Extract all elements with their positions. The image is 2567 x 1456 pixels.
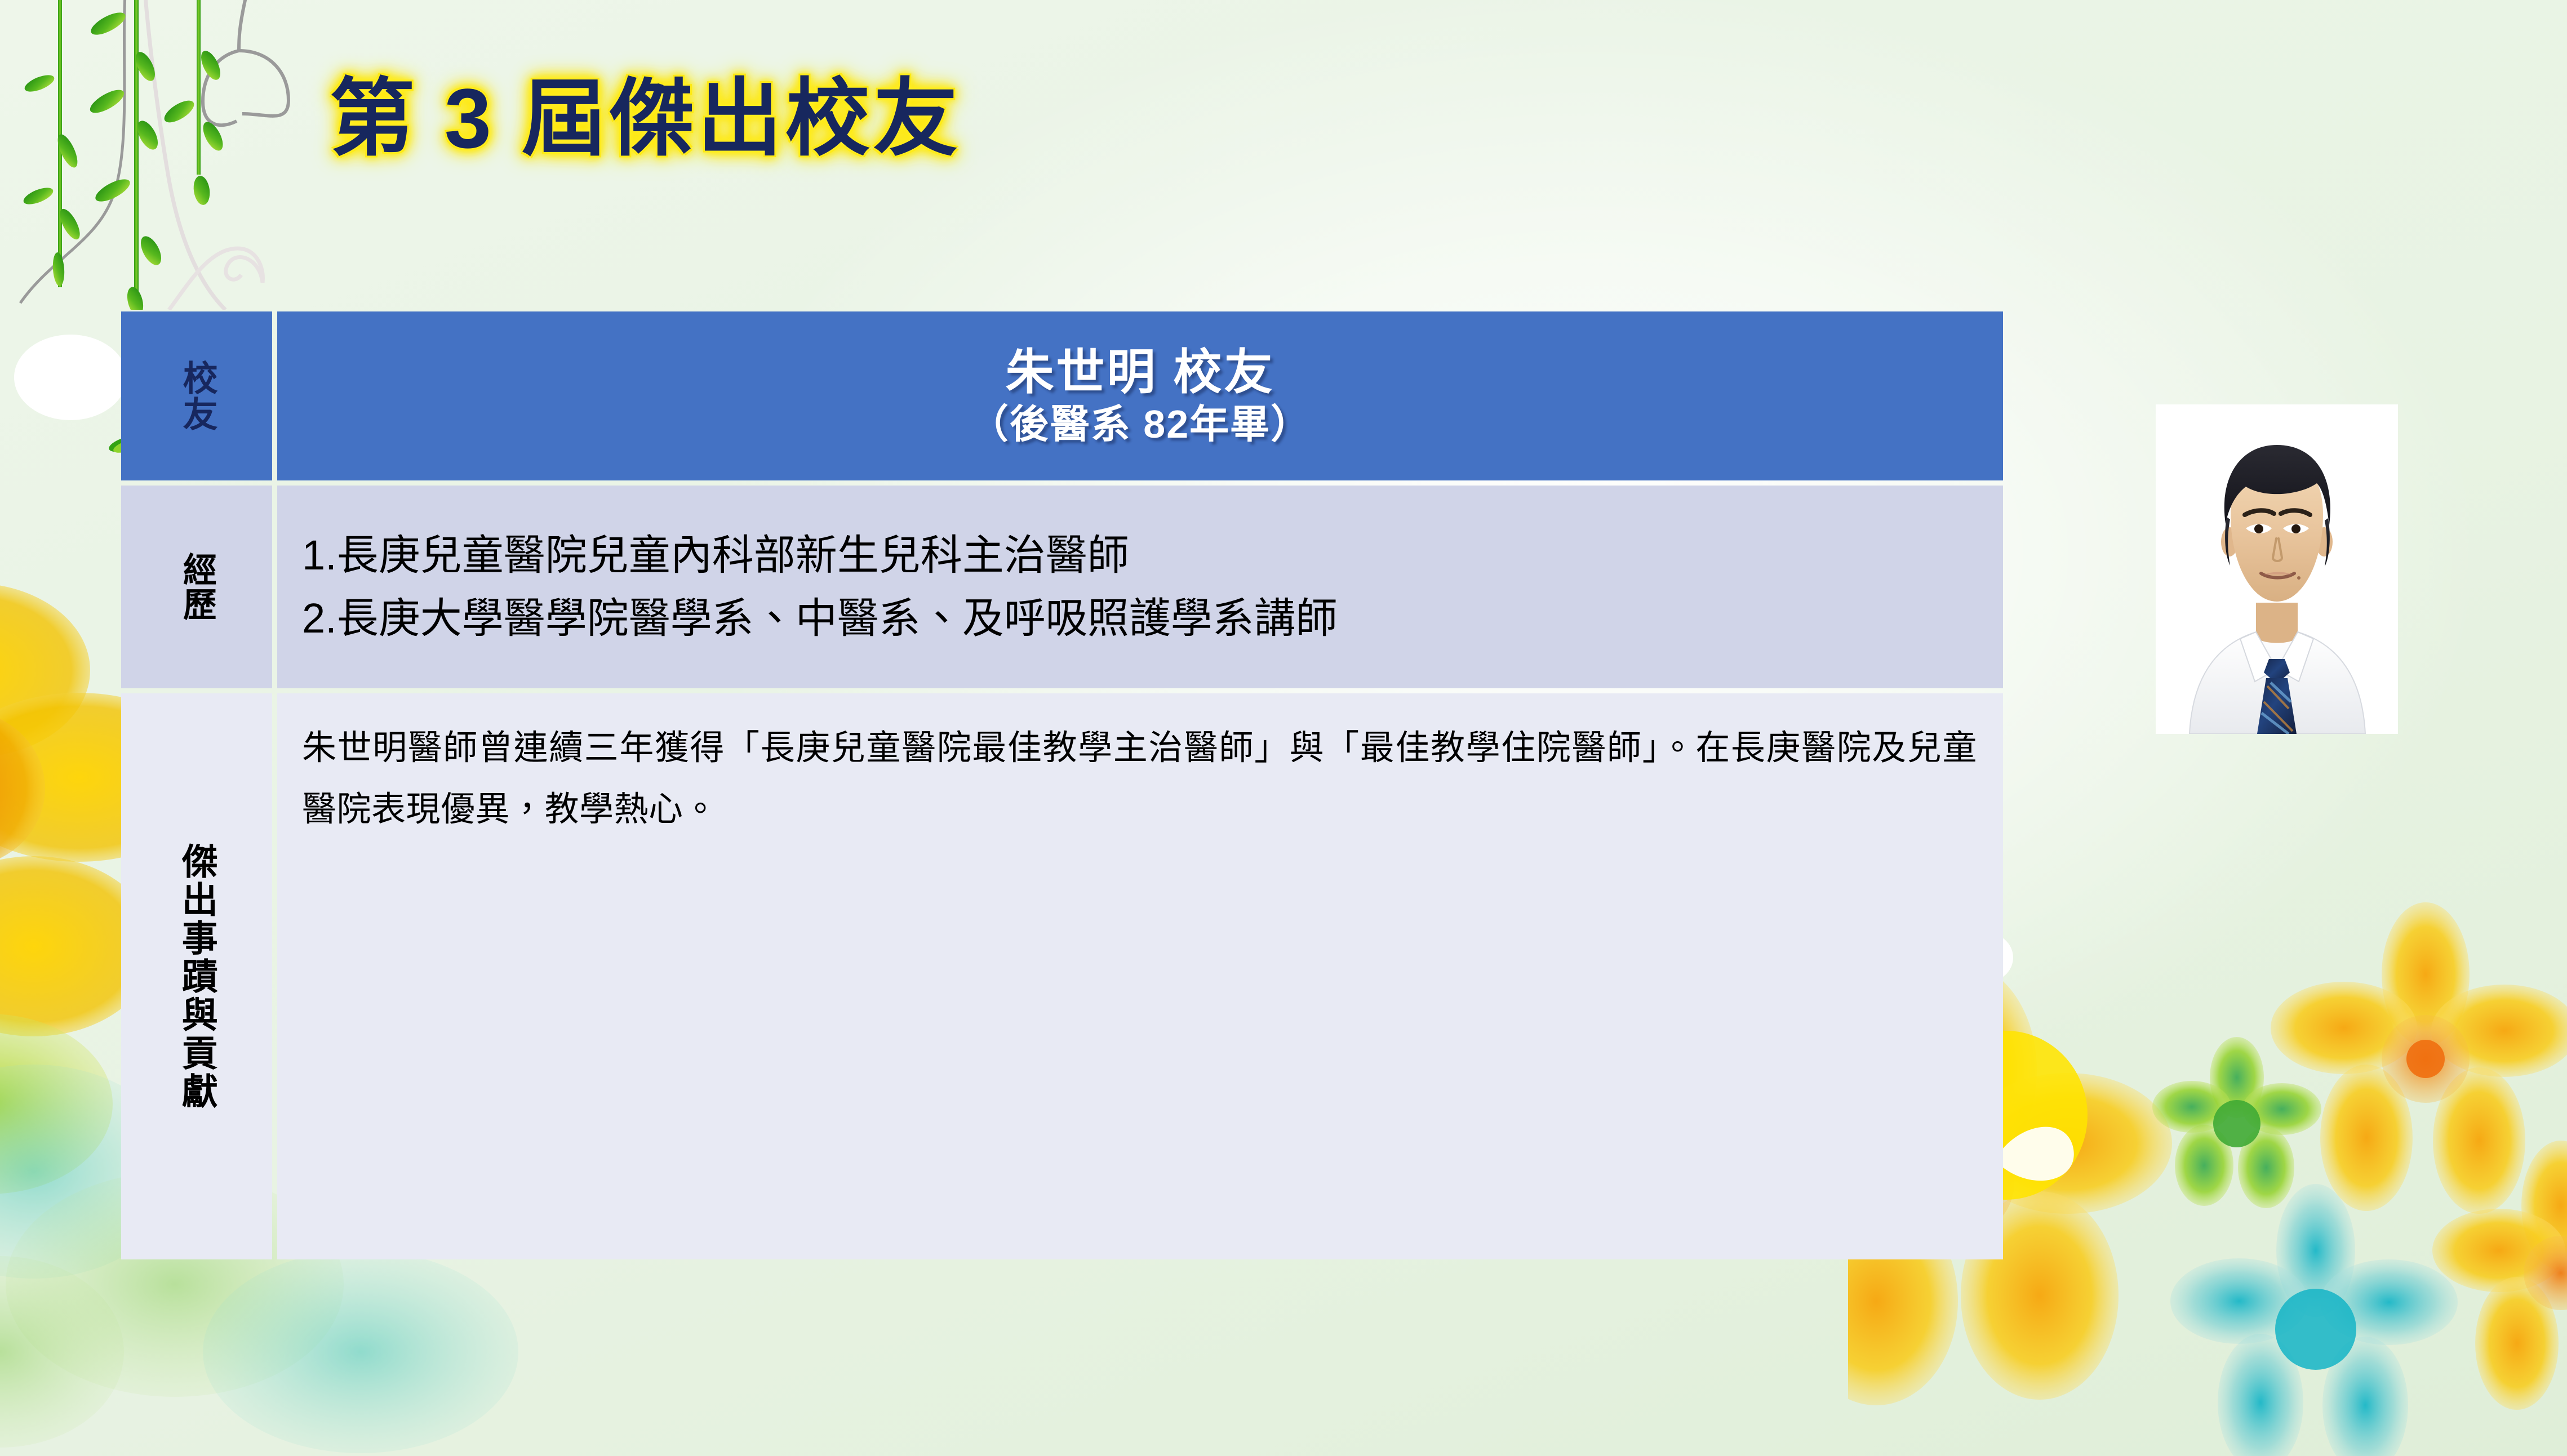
alumni-name: 朱世明 校友 [1006,346,1275,399]
row-label-alumni: 校友 [121,311,272,480]
alumni-info-table: 校友 朱世明 校友 （後醫系 82年畢） 經歷 1.長庚兒童醫院兒童內科部新生兒… [121,311,2003,1259]
row-label-achievements-text: 傑出事蹟與貢獻 [175,843,218,1111]
table-row-achievements: 傑出事蹟與貢獻 朱世明醫師曾連續三年獲得「長庚兒童醫院最佳教學主治醫師」與「最佳… [121,693,2003,1259]
achievements-body-text: 朱世明醫師曾連續三年獲得「長庚兒童醫院最佳教學主治醫師」與「最佳教學住院醫師」。… [302,717,1977,839]
alumni-portrait-photo [2156,404,2398,734]
slide-title-container: 第 3 屆傑出校友 [330,74,961,163]
row-label-alumni-text: 校友 [176,360,217,432]
experience-item-1: 1.長庚兒童醫院兒童內科部新生兒科主治醫師 [302,524,2003,587]
table-row-header: 校友 朱世明 校友 （後醫系 82年畢） [121,311,2003,480]
header-content-cell: 朱世明 校友 （後醫系 82年畢） [277,311,2003,480]
experience-item-2: 2.長庚大學醫學院醫學系、中醫系、及呼吸照護學系講師 [302,587,2003,650]
portrait-illustration [2156,404,2398,734]
achievements-content-cell: 朱世明醫師曾連續三年獲得「長庚兒童醫院最佳教學主治醫師」與「最佳教學住院醫師」。… [277,693,2003,1259]
row-label-experience-text: 經歷 [177,552,217,622]
page-title: 第 3 屆傑出校友 [330,74,961,163]
table-row-experience: 經歷 1.長庚兒童醫院兒童內科部新生兒科主治醫師 2.長庚大學醫學院醫學系、中醫… [121,486,2003,688]
hanging-vines-decoration [0,0,316,310]
experience-content-cell: 1.長庚兒童醫院兒童內科部新生兒科主治醫師 2.長庚大學醫學院醫學系、中醫系、及… [277,486,2003,688]
alumni-department-year: （後醫系 82年畢） [969,403,1311,446]
row-label-experience: 經歷 [121,486,272,688]
row-label-achievements: 傑出事蹟與貢獻 [121,693,272,1259]
slide-canvas: 第 3 屆傑出校友 [0,0,2567,1456]
